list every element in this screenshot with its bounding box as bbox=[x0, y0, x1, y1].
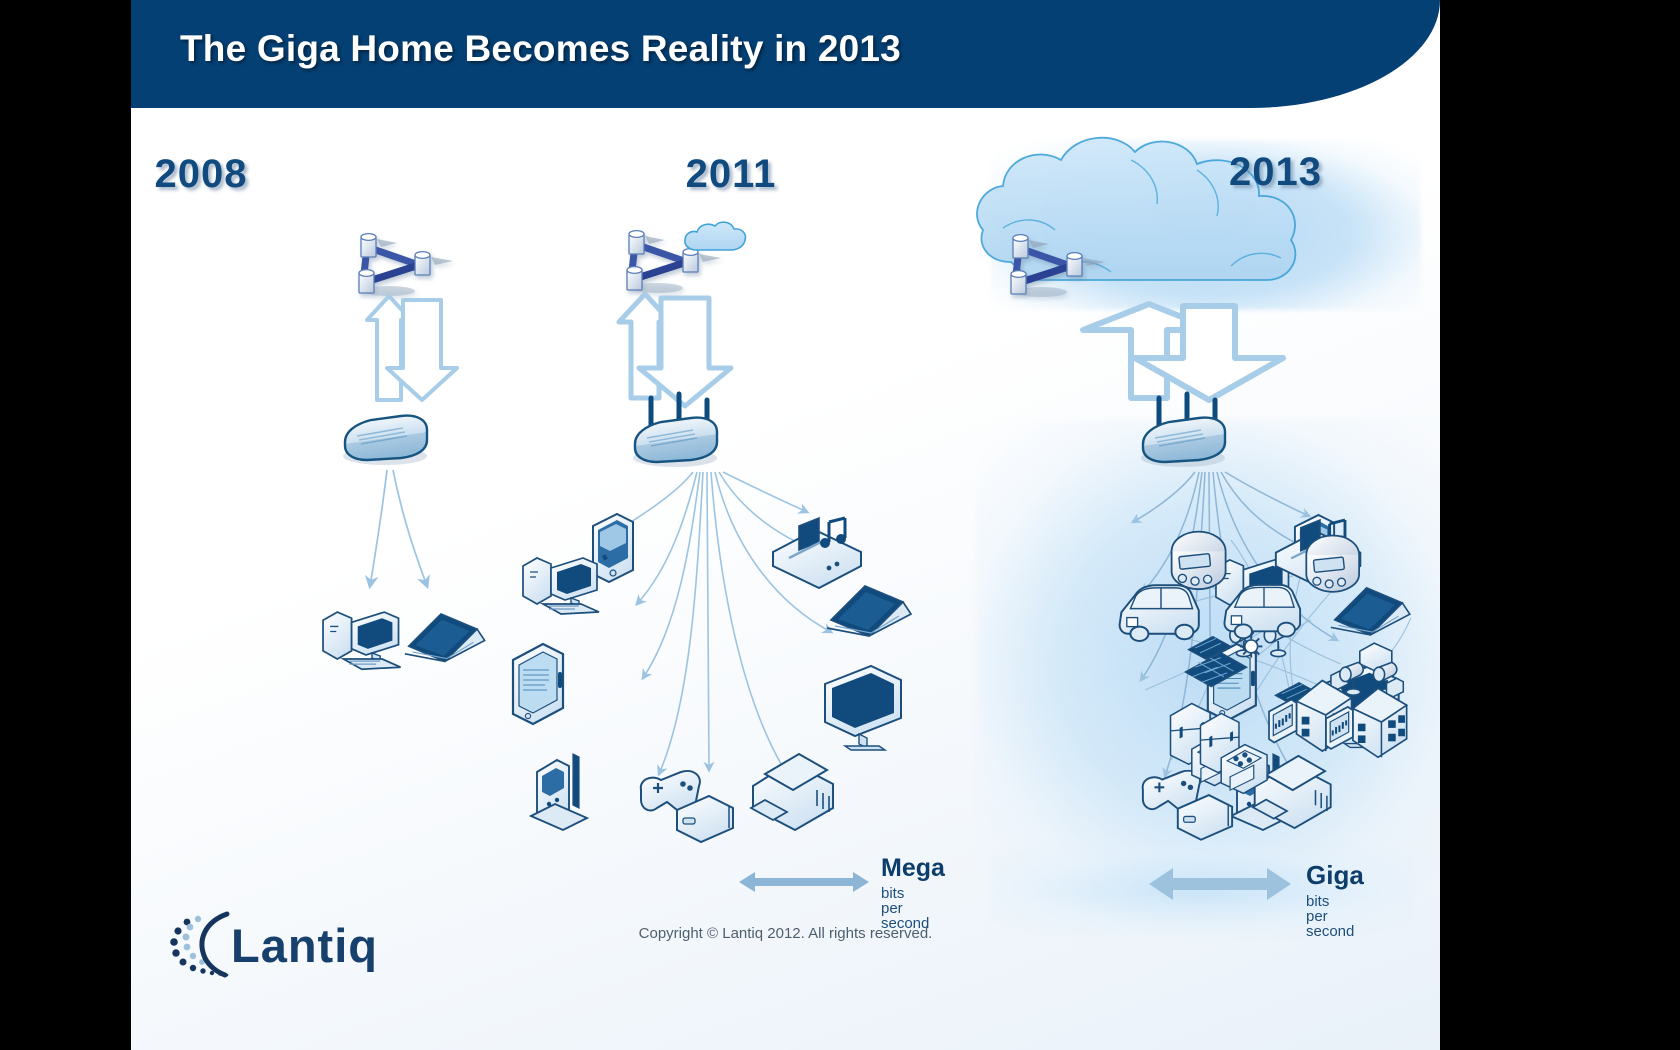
screenshot-stage: The Giga Home Becomes Reality in 2013 bbox=[0, 0, 1680, 1050]
presentation-slide: The Giga Home Becomes Reality in 2013 bbox=[131, 0, 1440, 1050]
year-label-2011: 2011 bbox=[511, 152, 951, 197]
column-label-2013: 2013 bbox=[931, 108, 1440, 908]
bandwidth-giga-label: Giga bbox=[1306, 862, 1364, 888]
column-label-2011: 2011 bbox=[511, 108, 951, 908]
year-label-2013: 2013 bbox=[1021, 150, 1440, 195]
lantiq-logo: Lantiq bbox=[165, 900, 395, 990]
column-label-2008: 2008 bbox=[131, 108, 531, 908]
bandwidth-mega-label: Mega bbox=[881, 856, 945, 881]
lantiq-wordmark: Lantiq bbox=[231, 919, 378, 972]
lantiq-logo-arc-icon bbox=[170, 914, 228, 976]
year-label-2008: 2008 bbox=[131, 152, 401, 197]
